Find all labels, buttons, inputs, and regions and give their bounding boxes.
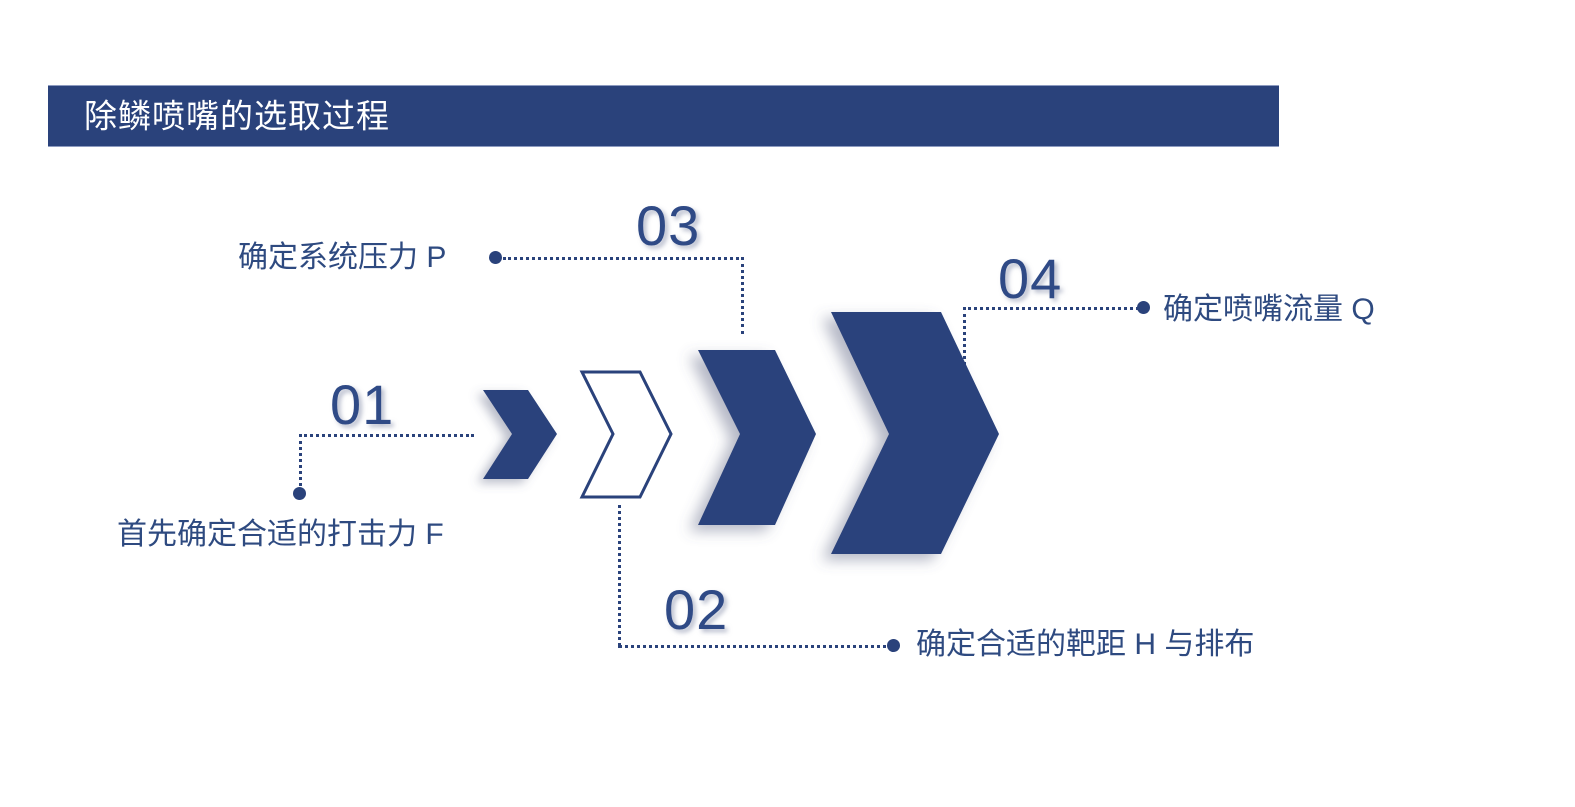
connector-02-endpoint-dot (887, 639, 900, 652)
connector-04-endpoint-dot (1137, 301, 1150, 314)
step-number-01: 01 (330, 377, 394, 433)
chevron-2 (582, 372, 671, 497)
chevron-4 (831, 312, 999, 554)
connector-01-vertical (299, 434, 302, 492)
step-label-04: 确定喷嘴流量 Q (1163, 295, 1375, 325)
connector-02-horizontal (618, 645, 894, 648)
connector-04-vertical (963, 307, 966, 377)
slide-canvas: 除鳞喷嘴的选取过程 01 02 03 04 (0, 0, 1575, 807)
chevron-1 (483, 390, 557, 479)
connector-03-endpoint-dot (489, 251, 502, 264)
connector-02-vertical (618, 505, 621, 646)
connector-03-horizontal (503, 257, 744, 260)
step-number-03: 03 (636, 198, 700, 254)
step-label-02: 确定合适的靶距 H 与排布 (916, 630, 1254, 660)
step-label-03: 确定系统压力 P (238, 243, 446, 273)
page-title: 除鳞喷嘴的选取过程 (84, 100, 390, 133)
chevron-3 (698, 350, 816, 525)
connector-01-endpoint-dot (293, 487, 306, 500)
step-number-02: 02 (664, 582, 728, 638)
connector-03-vertical (741, 257, 744, 334)
title-bar: 除鳞喷嘴的选取过程 (48, 86, 1279, 146)
step-number-04: 04 (998, 251, 1062, 307)
step-label-01: 首先确定合适的打击力 F (117, 520, 444, 550)
